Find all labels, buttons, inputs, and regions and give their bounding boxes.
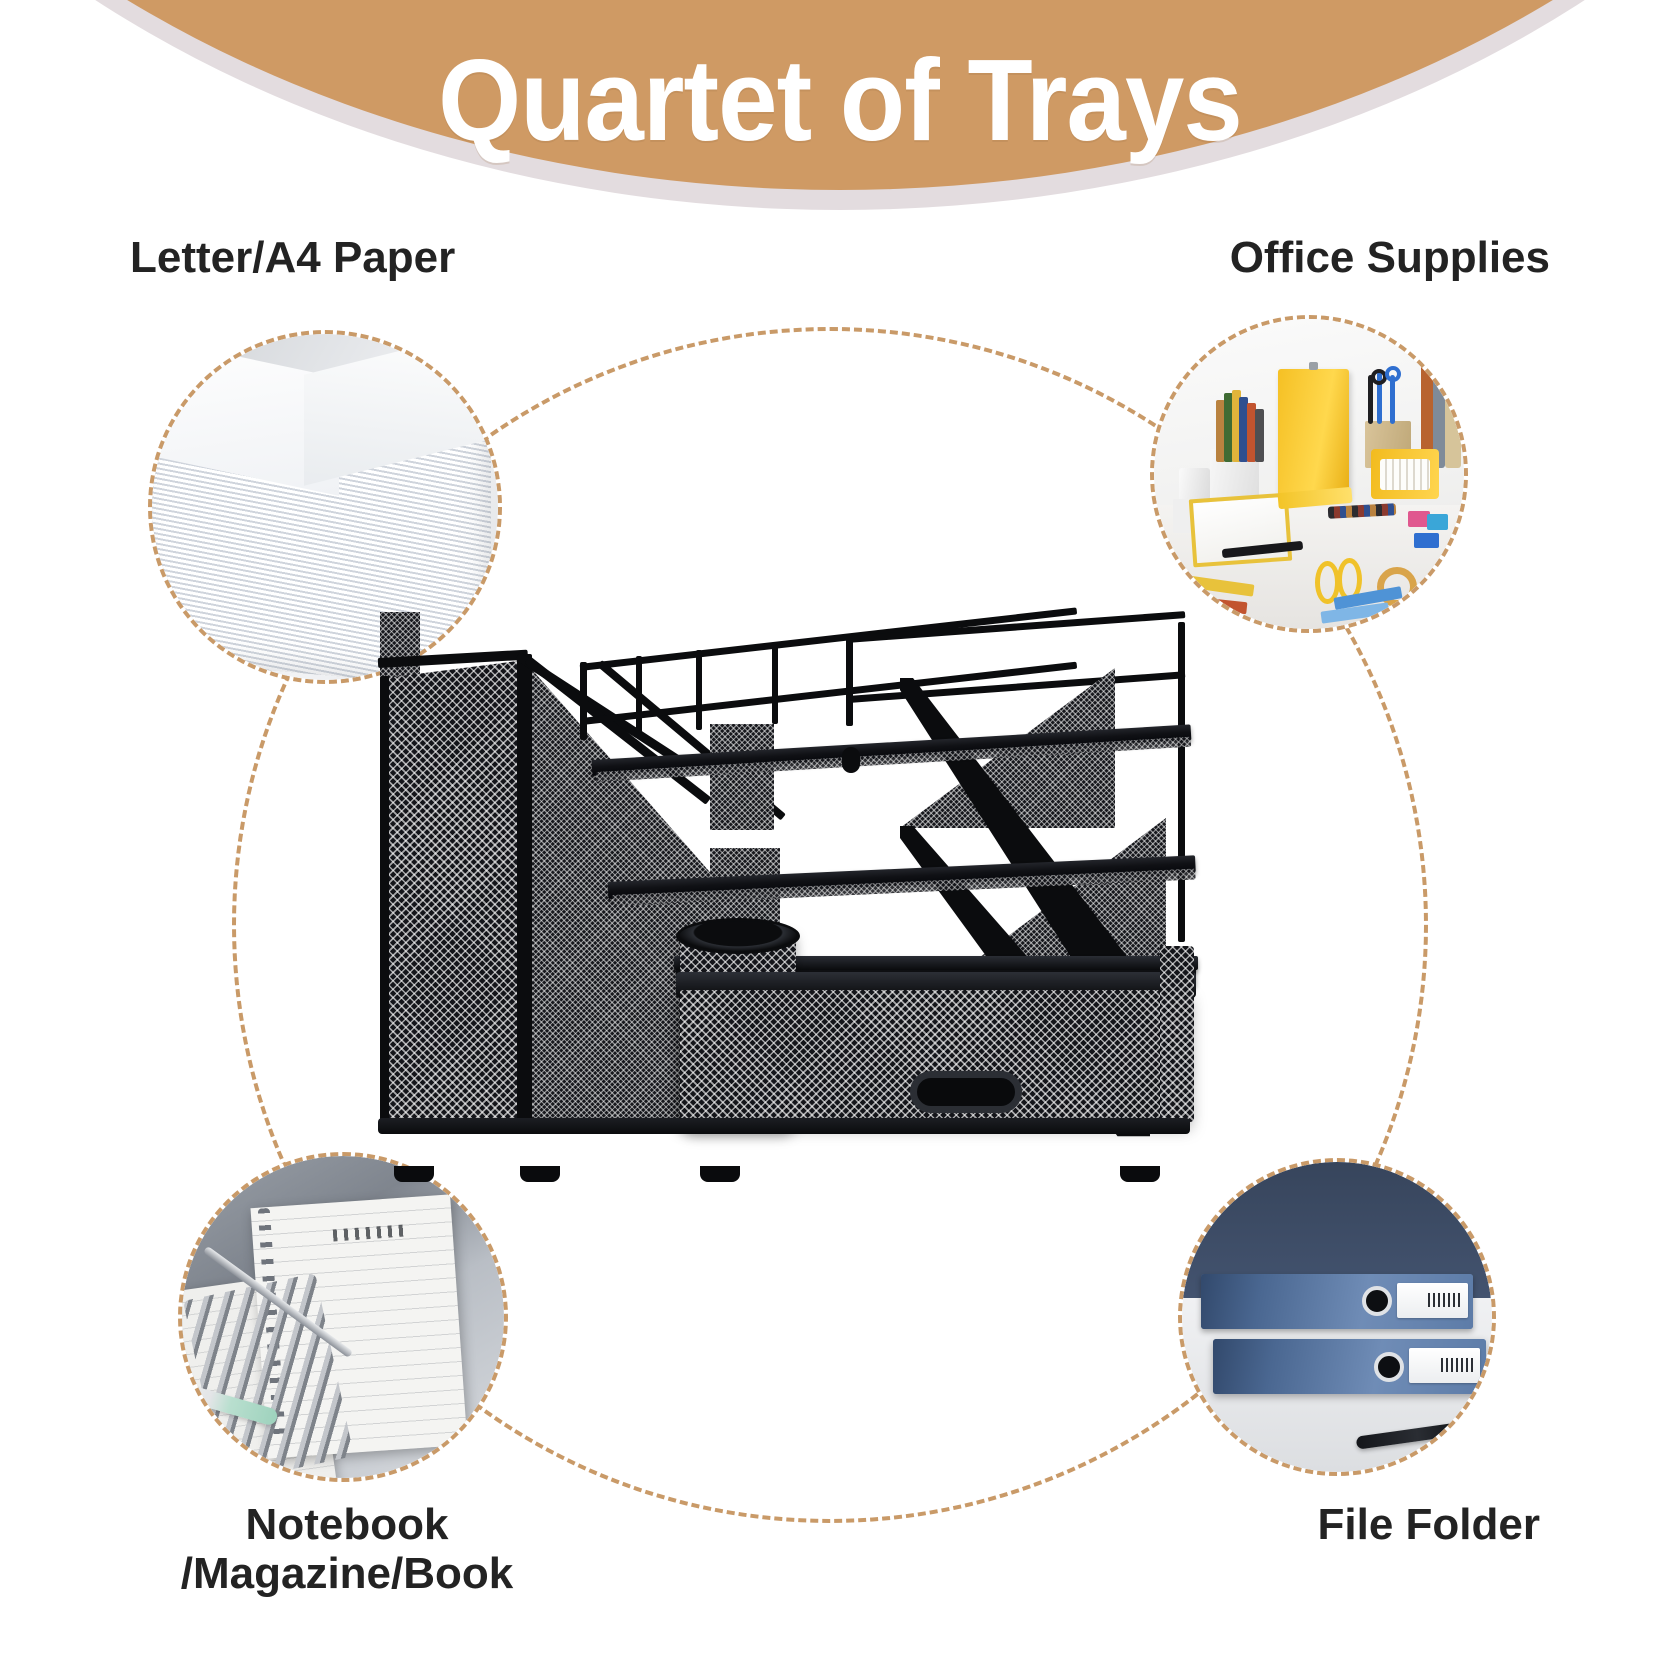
header-banner: Quartet of Trays bbox=[0, 0, 1680, 230]
upper-wire-rail bbox=[580, 607, 1078, 671]
feature-label-notebook-magazine-book: Notebook /Magazine/Book bbox=[112, 1500, 582, 1599]
feature-image-office-supplies bbox=[1150, 315, 1468, 633]
feature-image-notebook-magazine-book bbox=[178, 1152, 508, 1482]
feature-image-file-folder bbox=[1178, 1158, 1496, 1476]
pen-cup-rim bbox=[676, 918, 800, 954]
vertical-file-pocket-left bbox=[380, 660, 525, 1130]
drawer-handle[interactable] bbox=[910, 1071, 1022, 1113]
sliding-drawer[interactable] bbox=[680, 990, 1190, 1120]
feature-label-office-supplies: Office Supplies bbox=[1230, 233, 1550, 282]
feature-label-letter-a4-paper: Letter/A4 Paper bbox=[130, 233, 455, 282]
product-image-mesh-desk-organizer bbox=[380, 612, 1180, 1172]
feature-label-file-folder: File Folder bbox=[1318, 1500, 1540, 1549]
page-title: Quartet of Trays bbox=[67, 40, 1613, 162]
organizer-base bbox=[378, 1118, 1190, 1134]
